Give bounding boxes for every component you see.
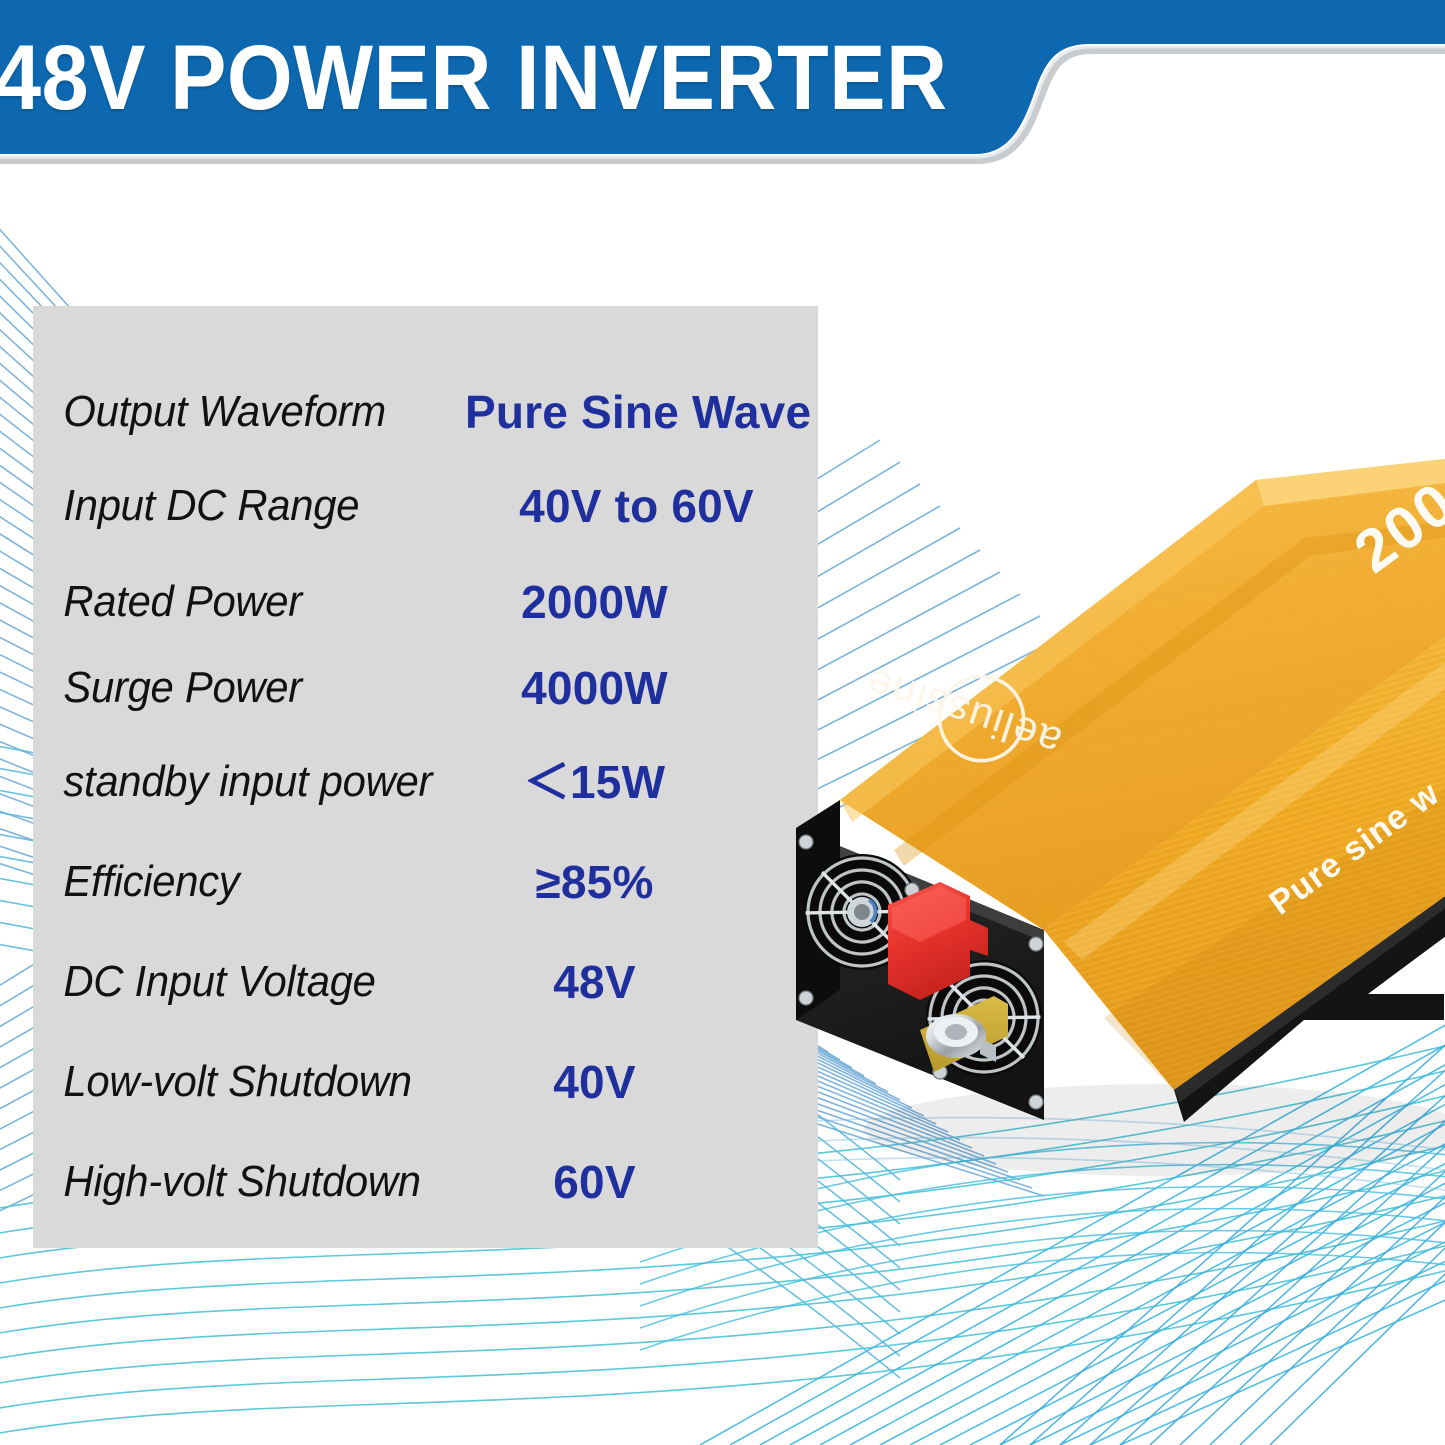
table-row: Low-volt Shutdown 40V (33, 1034, 818, 1130)
spec-label: Efficiency (33, 859, 443, 905)
table-row: Efficiency ≥85% (33, 834, 818, 930)
product-waveform-text: Pure sine w (1262, 774, 1445, 922)
spec-label: Input DC Range (33, 483, 443, 529)
table-row: High-volt Shutdown 60V (33, 1134, 818, 1230)
spec-value: 60V (465, 1158, 818, 1206)
page-title: 48V POWER INVERTER (0, 22, 969, 134)
table-row: DC Input Voltage 48V (33, 934, 818, 1030)
spec-value: 2000W (465, 578, 818, 626)
product-brand-text: aeliussine (860, 659, 1067, 766)
product-power-text: 200 (1342, 469, 1445, 586)
product-photo-inverter: aeliussine Pure sine w 200 (744, 330, 1445, 1270)
spec-label: standby input power (33, 759, 443, 805)
table-row: Surge Power 4000W (33, 640, 818, 736)
table-row: Output Waveform Pure Sine Wave (33, 364, 818, 460)
spec-value: ≥85% (465, 858, 818, 906)
spec-value: 40V (465, 1058, 818, 1106)
spec-value: 48V (465, 958, 818, 1006)
spec-label: Rated Power (33, 579, 443, 625)
spec-label: High-volt Shutdown (33, 1159, 443, 1205)
table-row: standby input power ＜15W (33, 734, 818, 830)
specification-table: Output Waveform Pure Sine Wave Input DC … (33, 306, 818, 1248)
spec-label: Low-volt Shutdown (33, 1059, 443, 1105)
spec-value: Pure Sine Wave (465, 388, 821, 436)
table-row: Input DC Range 40V to 60V (33, 458, 818, 554)
spec-label: Surge Power (33, 665, 443, 711)
table-row: Rated Power 2000W (33, 554, 818, 650)
spec-value: ＜15W (465, 758, 818, 806)
spec-label: DC Input Voltage (33, 959, 443, 1005)
spec-label: Output Waveform (33, 389, 443, 435)
spec-value: 40V to 60V (465, 482, 818, 530)
spec-value: 4000W (465, 664, 818, 712)
product-infographic: aeliussine Pure sine w 200 48V POWER INV… (0, 0, 1445, 1445)
